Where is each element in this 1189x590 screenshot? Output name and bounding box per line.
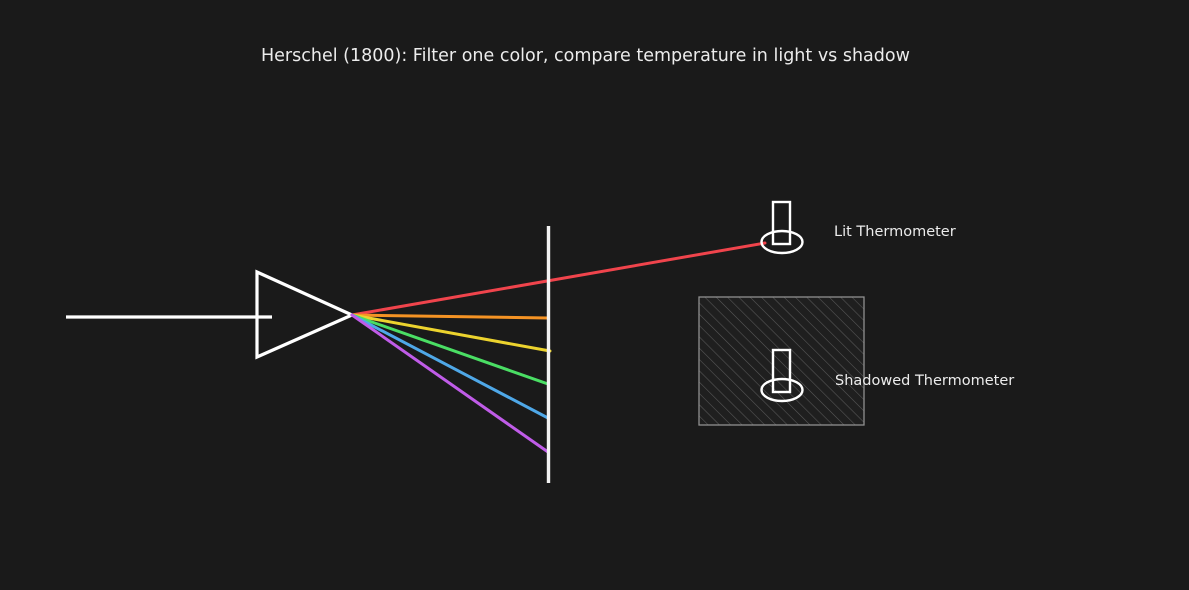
shadow-region-group	[699, 297, 864, 425]
page-title: Herschel (1800): Filter one color, compa…	[261, 46, 910, 66]
shadow-region-hatch	[699, 297, 864, 425]
herschel-experiment-diagram: Herschel (1800): Filter one color, compa…	[0, 0, 1189, 590]
background	[0, 0, 1189, 590]
lit-thermometer-label: Lit Thermometer	[834, 224, 956, 240]
diagram-stage: Herschel (1800): Filter one color, compa…	[0, 0, 1189, 590]
shadowed-thermometer-label: Shadowed Thermometer	[835, 373, 1014, 389]
